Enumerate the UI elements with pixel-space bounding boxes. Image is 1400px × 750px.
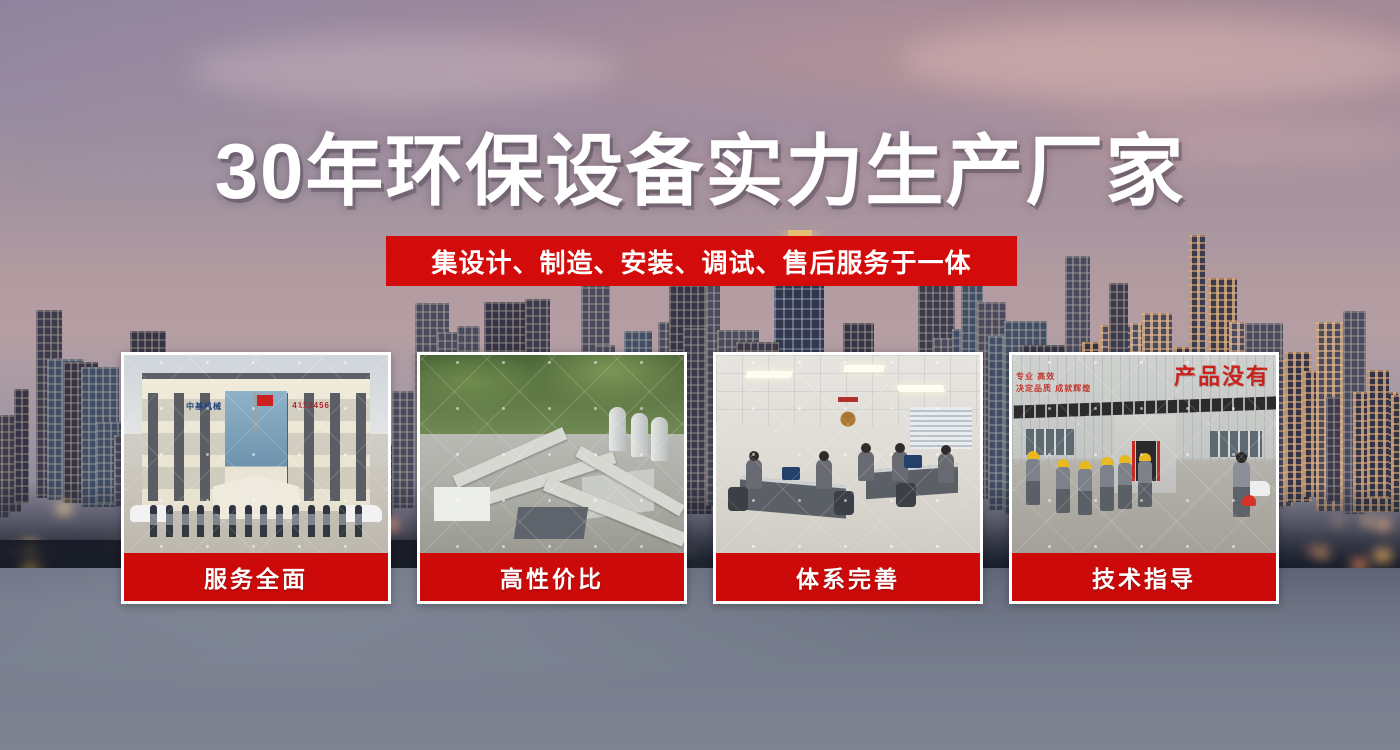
card-caption-bar: 服务全面: [124, 553, 388, 601]
watermark-dot: [890, 545, 893, 548]
flag-icon: [254, 393, 257, 433]
card-caption-bar: 体系完善: [716, 553, 980, 601]
aerial-industrial-plant-photo: [420, 355, 684, 553]
building-phone-text: 4113456: [292, 401, 330, 410]
watermark-dot: [798, 453, 801, 456]
promo-banner: 30年环保设备实力生产厂家 集设计、制造、安装、调试、售后服务于一体 中基机械 …: [0, 0, 1400, 750]
cloud: [190, 35, 620, 105]
factory-workers-training-photo: 专业 高效 决定品质 成就辉煌 产品没有: [1012, 355, 1276, 553]
feature-card[interactable]: 专业 高效 决定品质 成就辉煌 产品没有: [1009, 352, 1279, 604]
skyline-building: [1367, 370, 1389, 498]
subtitle-bar: 集设计、制造、安装、调试、售后服务于一体: [386, 236, 1017, 286]
city-light: [1316, 548, 1329, 557]
watermark-dot: [798, 545, 801, 548]
city-light: [1375, 519, 1391, 530]
subtitle-text: 集设计、制造、安装、调试、售后服务于一体: [431, 243, 971, 280]
card-caption-bar: 高性价比: [420, 553, 684, 601]
card-caption-text: 体系完善: [796, 560, 900, 594]
window-blinds: [910, 407, 972, 449]
company-headquarters-building-photo: 中基机械 4113456: [124, 355, 388, 553]
wall-logo: [832, 403, 864, 429]
watermark-dot: [936, 545, 939, 548]
building-sign-text: 中基机械: [186, 401, 222, 412]
factory-banner-text: 产品没有: [1174, 359, 1270, 391]
office-interior-staff-photo: [716, 355, 980, 553]
watermark-dot: [844, 545, 847, 548]
city-light: [1361, 517, 1372, 525]
watermark-dot: [890, 499, 893, 502]
feature-card[interactable]: 高性价比: [417, 352, 687, 604]
factory-slogan-text: 专业 高效 决定品质 成就辉煌: [1016, 371, 1091, 395]
page-title: 30年环保设备实力生产厂家: [0, 132, 1400, 210]
card-caption-text: 技术指导: [1092, 560, 1196, 594]
cloud: [900, 18, 1400, 102]
card-caption-text: 高性价比: [500, 560, 604, 594]
watermark-dot: [752, 545, 755, 548]
staff-row: [150, 505, 362, 539]
watermark-dot: [844, 453, 847, 456]
red-helmet: [1242, 495, 1256, 506]
feature-card-list: 中基机械 4113456 服务全面: [121, 352, 1279, 604]
city-light: [1373, 549, 1391, 562]
feature-card[interactable]: 中基机械 4113456 服务全面: [121, 352, 391, 604]
city-light: [1334, 518, 1343, 524]
city-light: [56, 503, 72, 514]
watermark-dot: [936, 499, 939, 502]
feature-card[interactable]: 体系完善: [713, 352, 983, 604]
card-caption-bar: 技术指导: [1012, 553, 1276, 601]
card-caption-text: 服务全面: [204, 560, 308, 594]
